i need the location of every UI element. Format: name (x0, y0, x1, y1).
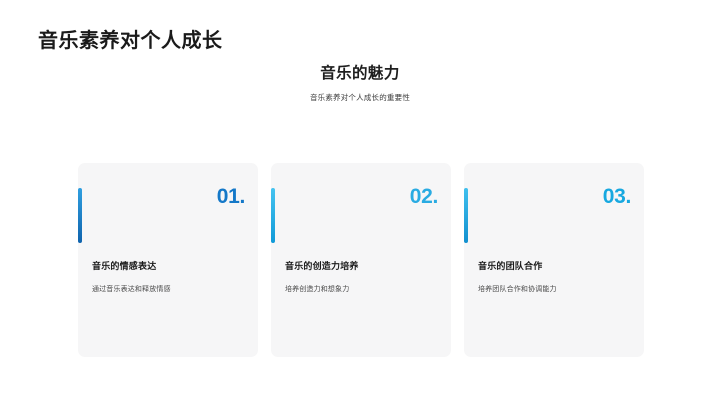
card-title: 音乐的情感表达 (92, 261, 156, 273)
section-subheading: 音乐素养对个人成长的重要性 (0, 93, 720, 103)
accent-bar-icon (464, 188, 468, 243)
card-number: 02. (410, 186, 438, 207)
card-title: 音乐的创造力培养 (285, 261, 359, 273)
feature-cards-row: 01. 音乐的情感表达 通过音乐表达和释放情感 02. 音乐的创造力培养 培养创… (78, 163, 644, 357)
feature-card-2[interactable]: 02. 音乐的创造力培养 培养创造力和想象力 (271, 163, 451, 357)
card-description: 培养创造力和想象力 (285, 285, 439, 295)
feature-card-3[interactable]: 03. 音乐的团队合作 培养团队合作和协调能力 (464, 163, 644, 357)
slide-canvas: 音乐素养对个人成长 音乐的魅力 音乐素养对个人成长的重要性 01. 音乐的情感表… (0, 0, 720, 405)
page-title: 音乐素养对个人成长 (38, 29, 223, 53)
section-heading: 音乐的魅力 (0, 64, 720, 84)
card-number: 01. (217, 186, 245, 207)
accent-bar-icon (78, 188, 82, 243)
card-description: 培养团队合作和协调能力 (478, 285, 632, 295)
card-description: 通过音乐表达和释放情感 (92, 285, 246, 295)
header-block: 音乐的魅力 音乐素养对个人成长的重要性 (0, 64, 720, 103)
card-number: 03. (603, 186, 631, 207)
accent-bar-icon (271, 188, 275, 243)
card-title: 音乐的团队合作 (478, 261, 542, 273)
feature-card-1[interactable]: 01. 音乐的情感表达 通过音乐表达和释放情感 (78, 163, 258, 357)
